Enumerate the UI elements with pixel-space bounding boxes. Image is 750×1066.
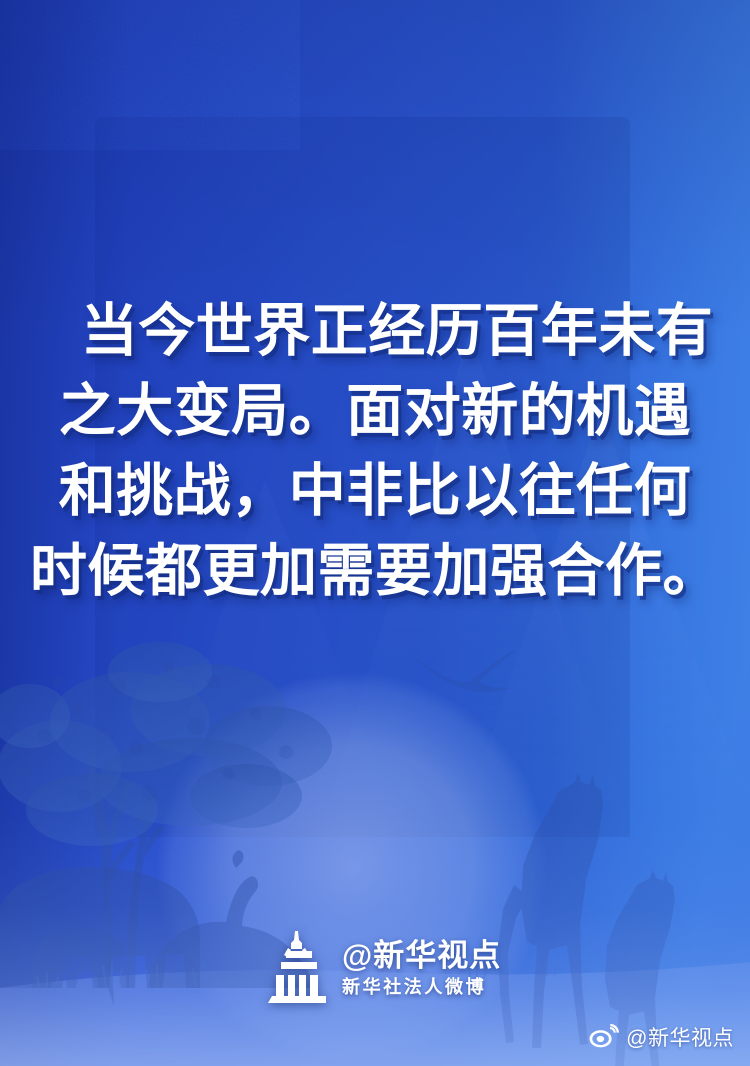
xinhua-logo-title: @新华视点 — [342, 940, 501, 973]
headline-block: 当今世界正经历百年未有 之大变局。面对新的机遇 和挑战，中非比以往任何 时候都更… — [0, 292, 750, 612]
weibo-watermark: @新华视点 — [589, 1022, 734, 1052]
weibo-eye-icon — [589, 1024, 619, 1050]
headline-line-2: 之大变局。面对新的机遇 — [0, 372, 750, 452]
xinhua-tower-logo-icon — [268, 931, 330, 1003]
poster-canvas: 当今世界正经历百年未有 之大变局。面对新的机遇 和挑战，中非比以往任何 时候都更… — [0, 0, 750, 1066]
background-bottom-haze — [0, 736, 750, 1066]
headline-line-4: 时候都更加需要加强合作。 — [0, 532, 750, 612]
xinhua-logo-text: @新华视点 新华社法人微博 — [342, 936, 501, 998]
headline-line-3: 和挑战，中非比以往任何 — [0, 452, 750, 532]
background-noise-texture — [0, 0, 300, 150]
headline-line-1: 当今世界正经历百年未有 — [0, 292, 750, 372]
xinhua-logo-block: @新华视点 新华社法人微博 — [268, 928, 518, 1006]
xinhua-logo-subtitle: 新华社法人微博 — [342, 976, 501, 999]
weibo-handle: @新华视点 — [626, 1022, 734, 1052]
